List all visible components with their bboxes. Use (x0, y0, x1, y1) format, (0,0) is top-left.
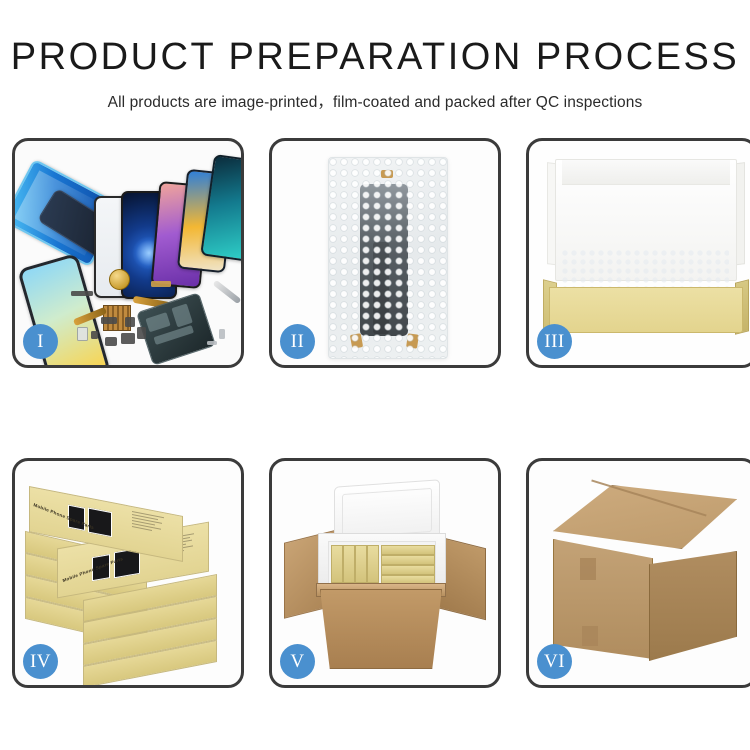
bubble-texture (329, 158, 447, 358)
step-badge-5: V (280, 644, 315, 679)
repair-tweezers-icon (213, 280, 241, 304)
process-step-1: I (12, 138, 244, 368)
page-title: PRODUCT PREPARATION PROCESS (0, 38, 750, 76)
box-yellow-tray (549, 287, 743, 333)
process-step-4: Mobile Phone Spare Parts Mobile Phone Sp… (12, 458, 244, 688)
step-badge-6: VI (537, 644, 572, 679)
carton-front-face (553, 539, 653, 659)
tape-strip-lower (582, 626, 598, 646)
bubble-wrap-contents (561, 249, 729, 291)
packed-yellow-boxes (328, 541, 436, 585)
page-subtitle: All products are image-printed，film-coat… (0, 90, 750, 112)
speaker-component (109, 269, 130, 290)
process-step-5: V (269, 458, 501, 688)
step-badge-2: II (280, 324, 315, 359)
carton-body (320, 589, 442, 669)
step-badge-3: III (537, 324, 572, 359)
carton-side-face (649, 551, 737, 661)
process-step-3: III (526, 138, 750, 368)
carton-top-face (553, 485, 737, 549)
bubble-wrap-bag (328, 157, 448, 359)
process-step-2: II (269, 138, 501, 368)
box-label-text-1: Mobile Phone Spare Parts (33, 502, 94, 530)
tape-strip-upper (580, 558, 596, 580)
step-badge-4: IV (23, 644, 58, 679)
step-badge-1: I (23, 324, 58, 359)
process-step-6: VI (526, 458, 750, 688)
product-preparation-infographic: PRODUCT PREPARATION PROCESS All products… (0, 0, 750, 750)
header: PRODUCT PREPARATION PROCESS All products… (0, 0, 750, 112)
box-stack: Mobile Phone Spare Parts Mobile Phone Sp… (21, 483, 239, 673)
process-step-grid: I II (12, 138, 738, 688)
